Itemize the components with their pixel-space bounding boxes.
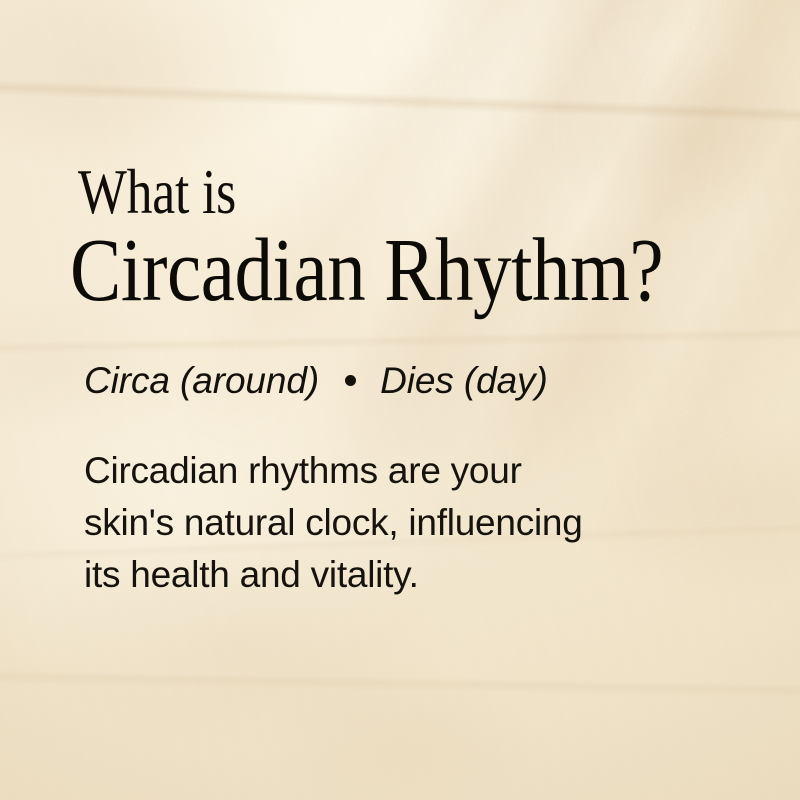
body-line: skin's natural clock, influencing (84, 497, 714, 549)
etymology-line: Circa (around) Dies (day) (84, 362, 548, 399)
eyebrow-text: What is (78, 161, 236, 224)
etymology-first-term: Circa (around) (84, 362, 319, 399)
bullet-separator-icon (345, 375, 356, 386)
body-line: its health and vitality. (84, 549, 714, 601)
body-line: Circadian rhythms are your (84, 445, 714, 497)
etymology-second-term: Dies (day) (380, 362, 548, 399)
infographic-poster: What is Circadian Rhythm? Circa (around)… (0, 0, 800, 800)
body-paragraph: Circadian rhythms are your skin's natura… (84, 445, 714, 601)
page-title: Circadian Rhythm? (70, 226, 663, 316)
text-content-block: What is Circadian Rhythm? Circa (around)… (0, 0, 800, 800)
